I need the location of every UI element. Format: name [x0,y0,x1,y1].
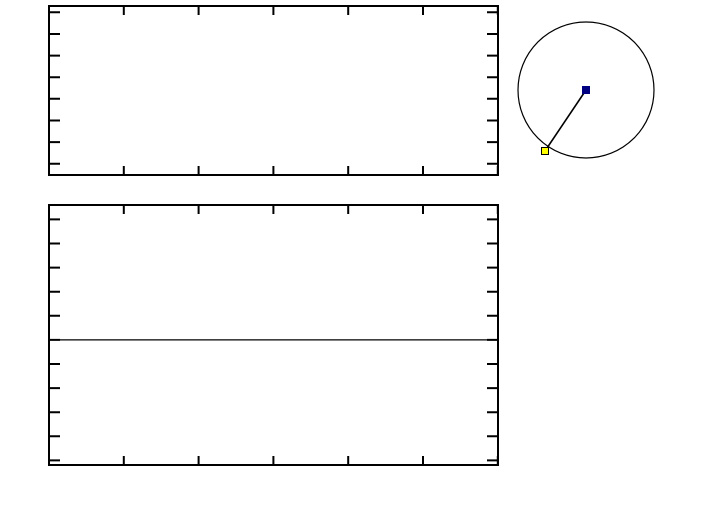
dispersion-plot [49,6,498,175]
dispersion-y-ticks [49,12,498,163]
figure-root [0,0,701,519]
spectra-plot-frame [49,205,498,465]
station-edge-dot [542,148,549,155]
spectra-plot [49,205,498,465]
azimuth-circle-inset [518,22,654,158]
spectra-x-ticks [49,205,498,465]
dispersion-plot-frame [49,6,498,175]
station-center-dot [583,87,590,94]
dispersion-x-ticks [49,6,498,175]
figure-canvas [0,0,701,519]
azimuth-ray [545,90,586,151]
